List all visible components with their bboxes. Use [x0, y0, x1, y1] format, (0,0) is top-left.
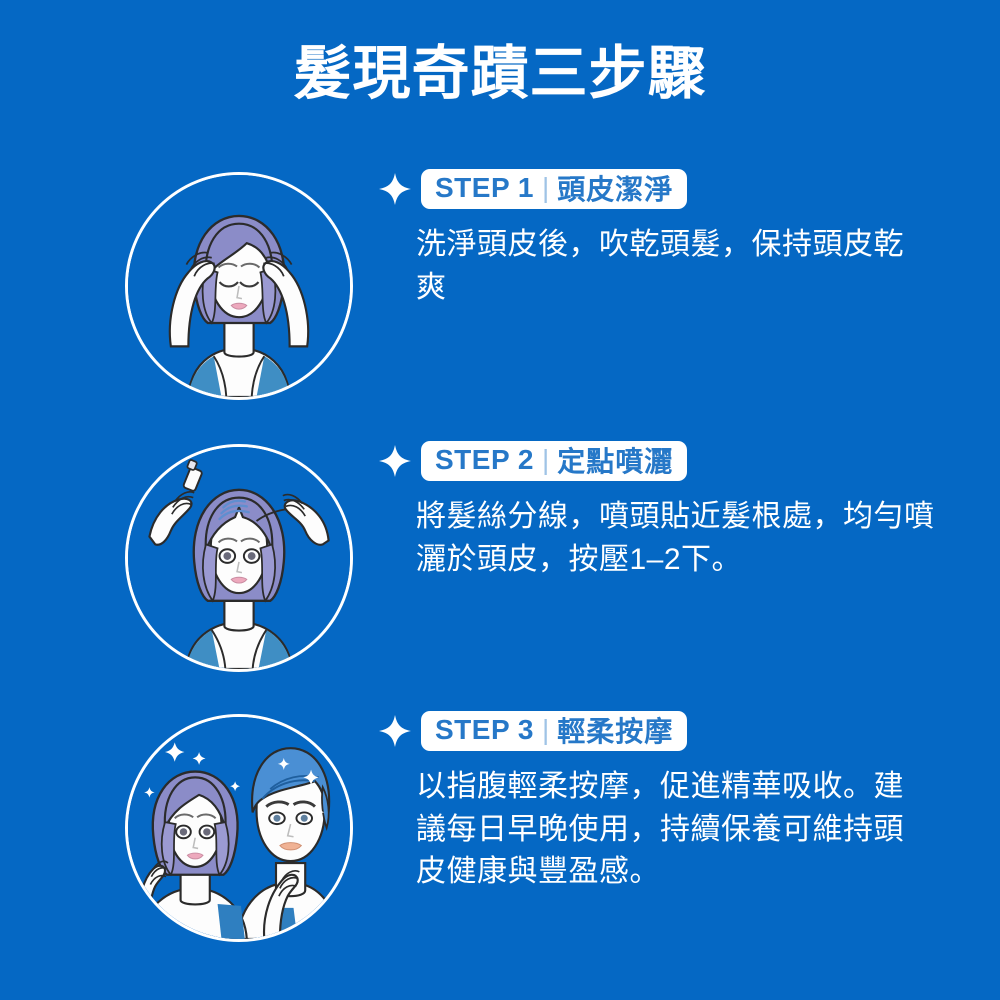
- step-description-1: 洗淨頭皮後，吹乾頭髮，保持頭皮乾爽: [416, 224, 906, 309]
- sparkle-icon: [378, 444, 412, 478]
- step-text-column-1: STEP 1 | 頭皮潔淨 洗淨頭皮後，吹乾頭髮，保持頭皮乾爽: [378, 165, 938, 309]
- step-badge-row-3: STEP 3 | 輕柔按摩: [378, 707, 938, 755]
- step-sub-label: 輕柔按摩: [557, 710, 673, 750]
- step-description-2: 將髮絲分線，噴頭貼近髮根處，均勻噴灑於頭皮，按壓1–2下。: [416, 496, 936, 581]
- step-badge-3[interactable]: STEP 3 | 輕柔按摩: [421, 711, 687, 751]
- step-block-1: STEP 1 | 頭皮潔淨 洗淨頭皮後，吹乾頭髮，保持頭皮乾爽: [0, 165, 1000, 405]
- step-block-2: STEP 2 | 定點噴灑 將髮絲分線，噴頭貼近髮根處，均勻噴灑於頭皮，按壓1–…: [0, 437, 1000, 677]
- step-text-column-3: STEP 3 | 輕柔按摩 以指腹輕柔按摩，促進精華吸收。建議每日早晚使用，持續…: [378, 707, 938, 894]
- step-number-label: STEP 1: [435, 172, 534, 204]
- badge-separator: |: [542, 446, 549, 474]
- sparkle-icon: [378, 172, 412, 206]
- step-text-column-2: STEP 2 | 定點噴灑 將髮絲分線，噴頭貼近髮根處，均勻噴灑於頭皮，按壓1–…: [378, 437, 938, 581]
- couple-healthy-hair-illustration: [125, 714, 353, 942]
- step-badge-row-1: STEP 1 | 頭皮潔淨: [378, 165, 938, 213]
- woman-massaging-scalp-illustration: [125, 172, 353, 400]
- woman-spraying-scalp-illustration: [125, 444, 353, 672]
- step-badge-2[interactable]: STEP 2 | 定點噴灑: [421, 441, 687, 481]
- step-sub-label: 定點噴灑: [557, 440, 673, 480]
- step-description-3: 以指腹輕柔按摩，促進精華吸收。建議每日早晚使用，持續保養可維持頭皮健康與豐盈感。: [416, 766, 916, 894]
- page-root: 髮現奇蹟三步驟: [0, 0, 1000, 1000]
- step-sub-label: 頭皮潔淨: [557, 168, 673, 208]
- step-block-3: STEP 3 | 輕柔按摩 以指腹輕柔按摩，促進精華吸收。建議每日早晚使用，持續…: [0, 707, 1000, 947]
- step-badge-1[interactable]: STEP 1 | 頭皮潔淨: [421, 169, 687, 209]
- badge-separator: |: [542, 174, 549, 202]
- step-number-label: STEP 2: [435, 444, 534, 476]
- sparkle-icon: [378, 714, 412, 748]
- page-title: 髮現奇蹟三步驟: [0, 42, 1000, 107]
- badge-separator: |: [542, 716, 549, 744]
- step-badge-row-2: STEP 2 | 定點噴灑: [378, 437, 938, 485]
- step-number-label: STEP 3: [435, 714, 534, 746]
